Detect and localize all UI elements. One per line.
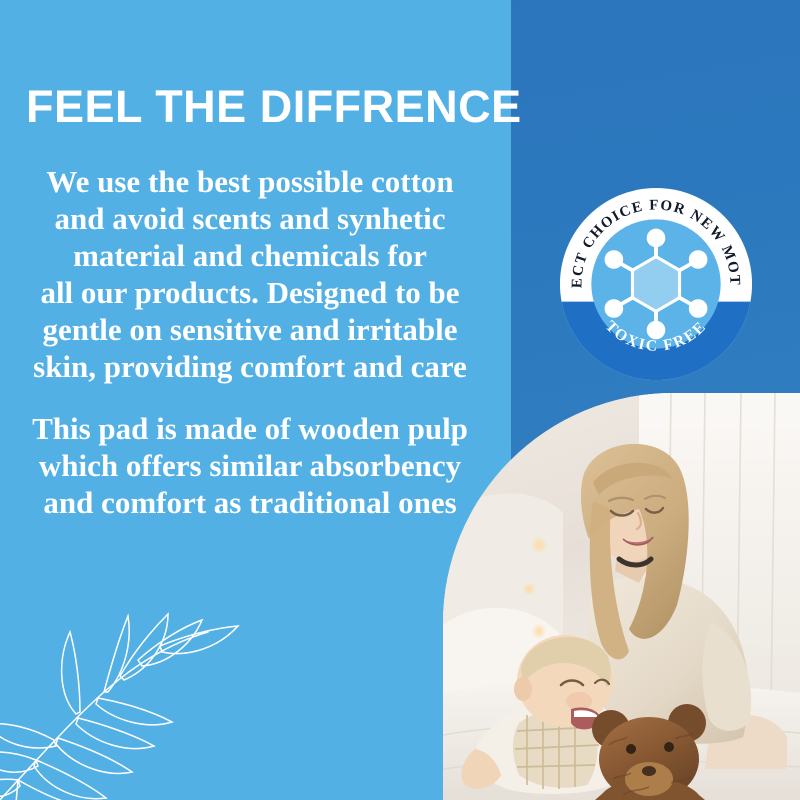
paragraph-line: skin, providing comfort and care	[0, 348, 500, 385]
paragraph-line: which offers similar absorbency	[0, 447, 500, 484]
paragraph-line: This pad is made of wooden pulp	[0, 410, 500, 447]
poster-canvas: FEEL THE DIFFRENCE We use the best possi…	[0, 0, 800, 800]
paragraph-line: gentle on sensitive and irritable	[0, 311, 500, 348]
paragraph-line: material and chemicals for	[0, 237, 500, 274]
paragraph-line: all our products. Designed to be	[0, 274, 500, 311]
paragraph-line: and avoid scents and synhetic	[0, 200, 500, 237]
page-title: FEEL THE DIFFRENCE	[26, 84, 496, 129]
toxic-free-badge: PERFECT CHOICE FOR NEW MOTHERS TOXIC FRE…	[558, 186, 754, 382]
benefits-paragraph: We use the best possible cotton and avoi…	[0, 163, 500, 385]
paragraph-line: and comfort as traditional ones	[0, 484, 500, 521]
material-paragraph: This pad is made of wooden pulp which of…	[0, 410, 500, 521]
paragraph-line: We use the best possible cotton	[0, 163, 500, 200]
